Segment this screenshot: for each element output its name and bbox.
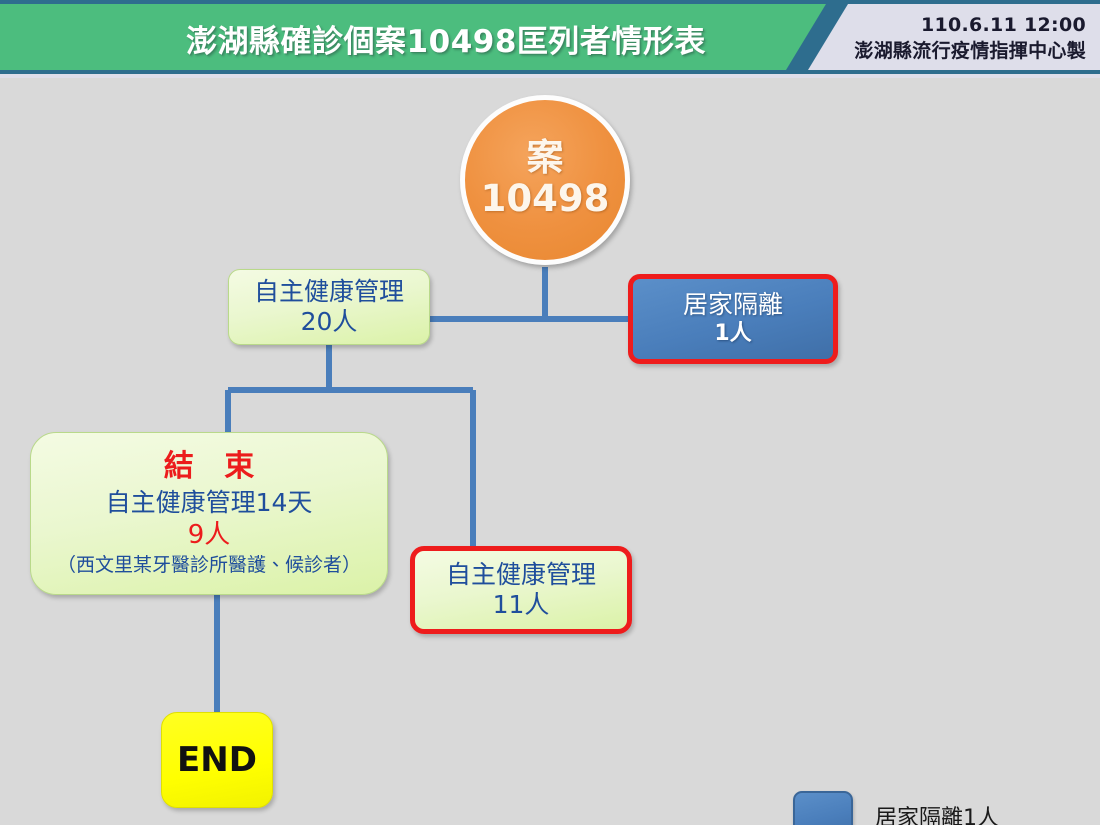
- header-top-rule: [0, 0, 1100, 4]
- header-underbar: [0, 74, 1100, 78]
- node-shm11-count: 11人: [493, 590, 550, 621]
- page-title: 澎湖縣確診個案10498匡列者情形表: [96, 16, 796, 61]
- node-case-label: 案: [527, 139, 564, 178]
- node-case-10498[interactable]: 案 10498: [460, 95, 630, 265]
- legend-label-home-quarantine: 居家隔離1人: [875, 800, 999, 825]
- node-shm20-label: 自主健康管理: [254, 277, 404, 308]
- legend-item-home-quarantine: 居家隔離1人: [793, 787, 1083, 825]
- header-meta: 110.6.11 12:00 澎湖縣流行疫情指揮中心製: [854, 14, 1086, 64]
- node-end[interactable]: END: [161, 712, 273, 808]
- node-finish-label: 自主健康管理14天: [106, 487, 313, 520]
- flowchart-canvas: 案 10498 自主健康管理 20人 居家隔離 1人 結 束 自主健康管理14天…: [0, 82, 1100, 825]
- node-home1-count: 1人: [714, 320, 751, 348]
- legend: 居家隔離1人 自主健康管理11人: [793, 787, 1083, 825]
- legend-blue-square-icon: [793, 791, 853, 825]
- header-organization: 澎湖縣流行疫情指揮中心製: [854, 40, 1086, 64]
- node-shm11-label: 自主健康管理: [446, 560, 596, 591]
- header-datetime: 110.6.11 12:00: [854, 14, 1086, 38]
- node-finish-self-health-14days[interactable]: 結 束 自主健康管理14天 9人 （西文里某牙醫診所醫護、候診者）: [30, 432, 388, 595]
- node-finish-count: 9人: [188, 519, 231, 553]
- node-finish-note: （西文里某牙醫診所醫護、候診者）: [57, 553, 361, 579]
- page-header: 澎湖縣確診個案10498匡列者情形表 110.6.11 12:00 澎湖縣流行疫…: [0, 0, 1100, 78]
- node-home-quarantine-1[interactable]: 居家隔離 1人: [628, 274, 838, 364]
- node-self-health-management-20[interactable]: 自主健康管理 20人: [228, 269, 430, 345]
- node-home1-label: 居家隔離: [683, 290, 783, 320]
- slide-root: 澎湖縣確診個案10498匡列者情形表 110.6.11 12:00 澎湖縣流行疫…: [0, 0, 1100, 825]
- node-shm20-count: 20人: [301, 307, 358, 338]
- node-self-health-management-11[interactable]: 自主健康管理 11人: [410, 546, 632, 634]
- node-case-number: 10498: [481, 178, 610, 221]
- node-finish-status: 結 束: [154, 448, 264, 486]
